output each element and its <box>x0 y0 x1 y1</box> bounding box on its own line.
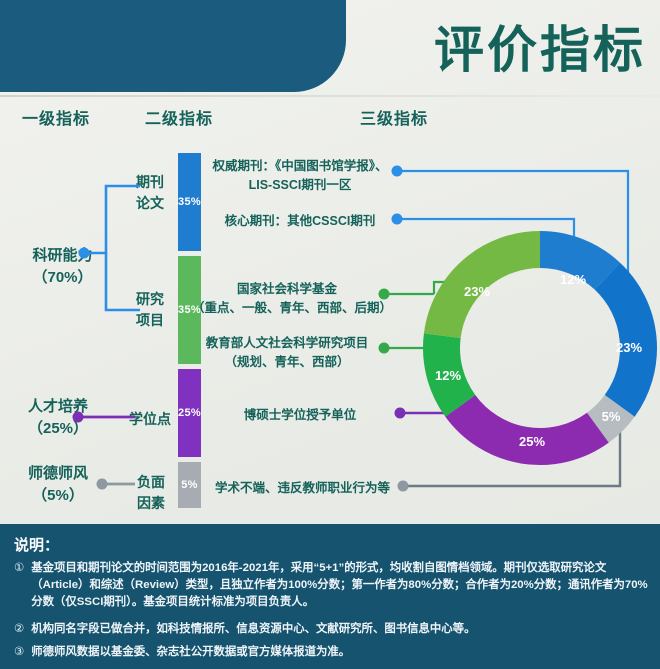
donut-label-23b: 23% <box>464 284 490 299</box>
note-item-1: ① 基金项目和期刊论文的时间范围为2016年-2021年，采用“5+1”的形式，… <box>14 560 654 611</box>
notes-title: 说明： <box>14 534 59 555</box>
donut-label-5: 5% <box>602 409 621 424</box>
weights-donut-chart: 12% 23% 5% 25% 12% 23% <box>420 228 660 468</box>
header-band <box>0 0 346 92</box>
note-text-3: 师德师风数据以基金委、杂志社公开数据或官方媒体报道为准。 <box>31 644 654 661</box>
donut-label-25: 25% <box>519 434 545 449</box>
donut-label-12a: 12% <box>560 272 586 287</box>
note-number-3: ③ <box>14 644 24 661</box>
donut-label-23a: 23% <box>616 340 642 355</box>
note-item-3: ③ 师德师风数据以基金委、杂志社公开数据或官方媒体报道为准。 <box>14 644 654 661</box>
donut-label-12b: 12% <box>435 368 461 383</box>
note-text-2: 机构同名字段已做合并，如科技情报所、信息资源中心、文献研究所、图书信息中心等。 <box>31 621 654 638</box>
page-title-right: 评价指标 <box>434 10 646 82</box>
notes-panel: 说明： ① 基金项目和期刊论文的时间范围为2016年-2021年，采用“5+1”… <box>0 524 660 669</box>
note-item-2: ② 机构同名字段已做合并，如科技情报所、信息资源中心、文献研究所、图书信息中心等… <box>14 621 654 638</box>
donut-segment-nssfc <box>442 250 540 336</box>
note-number-2: ② <box>14 621 24 638</box>
note-number-1: ① <box>14 560 24 611</box>
note-text-1: 基金项目和期刊论文的时间范围为2016年-2021年，采用“5+1”的形式，均收… <box>31 560 654 611</box>
infographic-page: 2021图书馆学术能力排名 Library Academic Ability R… <box>0 0 660 669</box>
